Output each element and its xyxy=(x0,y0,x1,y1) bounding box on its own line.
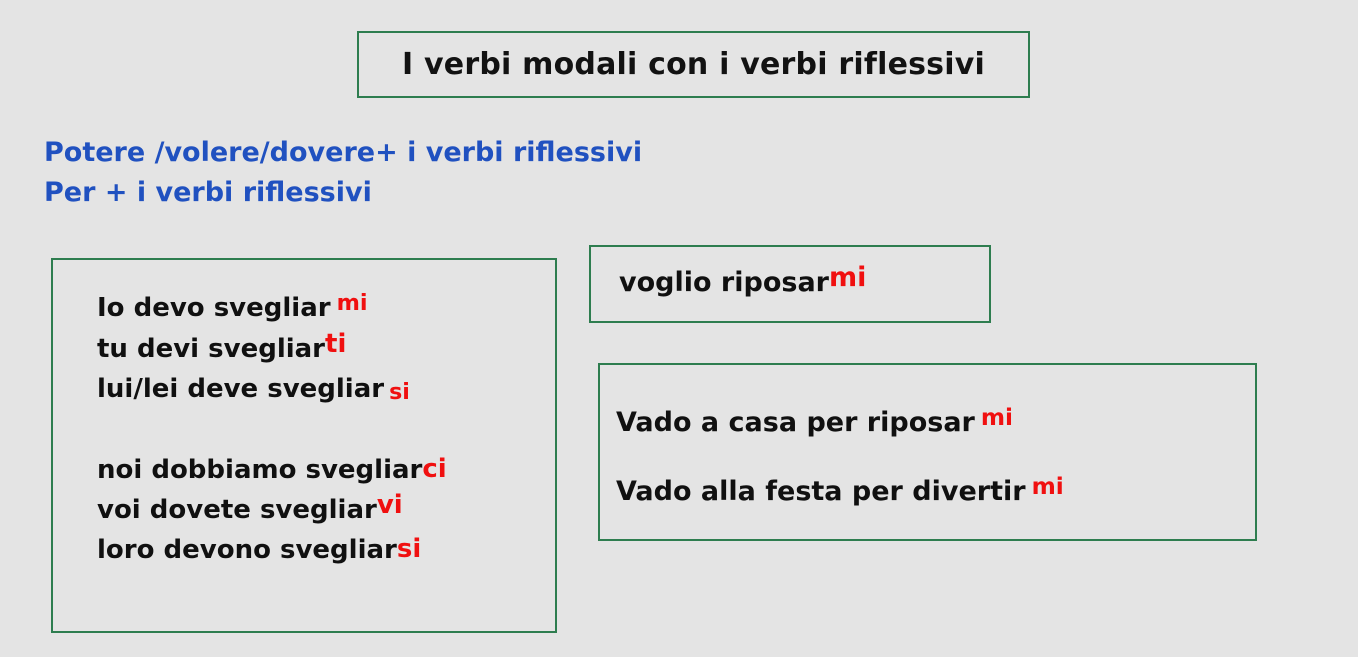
page-title: I verbi modali con i verbi riflessivi xyxy=(402,47,985,82)
reflexive-suffix: mi xyxy=(829,262,866,293)
conjugation-stem: tu devi svegliar xyxy=(97,334,325,364)
per-example-line: Vado a casa per riposarmi xyxy=(616,389,1064,458)
reflexive-suffix: si xyxy=(397,534,421,564)
per-example-box: Vado a casa per riposarmi Vado alla fest… xyxy=(598,363,1257,541)
conjugation-stem: voi dovete svegliar xyxy=(97,495,377,525)
conjugation-stem: noi dobbiamo svegliar xyxy=(97,455,422,485)
per-stem: Vado a casa per riposar xyxy=(616,407,975,438)
conjugation-stem: loro devono svegliar xyxy=(97,535,397,565)
per-example-list: Vado a casa per riposarmi Vado alla fest… xyxy=(616,389,1064,527)
slide-canvas: I verbi modali con i verbi riflessivi Po… xyxy=(0,0,1358,657)
reflexive-suffix: mi xyxy=(337,290,368,316)
conjugation-line: tu devi svegliarti xyxy=(97,329,447,369)
per-stem: Vado alla festa per divertir xyxy=(616,476,1026,507)
conjugation-line: Io devo svegliarmi xyxy=(97,288,447,329)
title-box: I verbi modali con i verbi riflessivi xyxy=(357,31,1030,98)
conjugation-line: lui/lei deve svegliarsi xyxy=(97,369,447,410)
subtitle-block: Potere /volere/dovere+ i verbi riflessiv… xyxy=(44,133,642,213)
conjugation-line: voi dovete svegliarvi xyxy=(97,490,447,530)
conjugation-spacer xyxy=(97,410,447,450)
conjugation-stem: Io devo svegliar xyxy=(97,293,331,323)
conjugation-stem: lui/lei deve svegliar xyxy=(97,374,384,404)
voglio-example-line: voglio riposarmi xyxy=(619,267,866,298)
conjugation-line: loro devono svegliarsi xyxy=(97,530,447,570)
subtitle-line-2: Per + i verbi riflessivi xyxy=(44,173,642,213)
reflexive-suffix: ti xyxy=(325,329,346,359)
reflexive-suffix: si xyxy=(389,379,410,405)
conjugation-box: Io devo svegliarmi tu devi svegliarti lu… xyxy=(51,258,557,633)
reflexive-suffix: mi xyxy=(1032,473,1064,500)
conjugation-list: Io devo svegliarmi tu devi svegliarti lu… xyxy=(97,288,447,570)
voglio-example-box: voglio riposarmi xyxy=(589,245,991,323)
reflexive-suffix: vi xyxy=(377,490,403,520)
voglio-stem: voglio riposar xyxy=(619,267,829,298)
subtitle-line-1: Potere /volere/dovere+ i verbi riflessiv… xyxy=(44,133,642,173)
reflexive-suffix: mi xyxy=(981,404,1013,431)
per-example-line: Vado alla festa per divertirmi xyxy=(616,458,1064,527)
conjugation-line: noi dobbiamo svegliarci xyxy=(97,450,447,490)
reflexive-suffix: ci xyxy=(422,454,446,484)
